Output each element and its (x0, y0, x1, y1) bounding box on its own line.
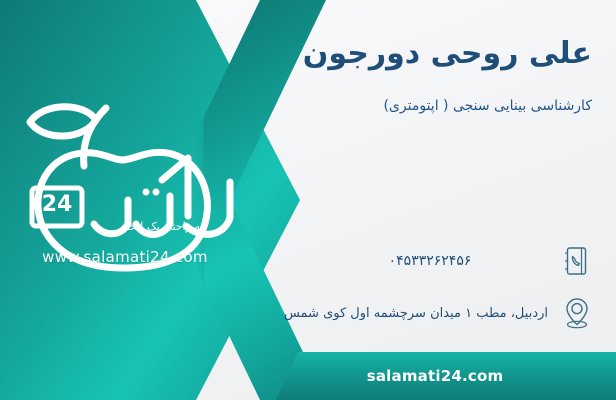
brand-logo: 24 به راحتی یک لبخند www.salamati24.com (10, 96, 260, 276)
contact-row-phone[interactable]: ۰۴۵۳۳۲۶۲۴۵۶ (294, 242, 594, 280)
business-card: 24 به راحتی یک لبخند www.salamati24.com … (0, 0, 616, 400)
address-text: اردبیل، مطب ۱ میدان سرچشمه اول کوی شمس (284, 306, 548, 321)
footer-bar[interactable]: salamati24.com (276, 352, 616, 400)
phone-number: ۰۴۵۳۳۲۶۲۴۵۶ (294, 253, 548, 269)
map-pin-icon (560, 294, 594, 332)
person-profession: کارشناسی بینایی سنجی ( اپتومتری) (383, 98, 592, 114)
logo-website-url: www.salamati24.com (10, 248, 240, 266)
logo-tagline: به راحتی یک لبخند (96, 220, 228, 233)
phone-book-icon (560, 242, 594, 280)
contact-row-address[interactable]: اردبیل، مطب ۱ میدان سرچشمه اول کوی شمس (294, 294, 594, 332)
footer-website: salamati24.com (367, 367, 526, 385)
person-name: علی روحی دورجون (303, 36, 592, 71)
contact-block: ۰۴۵۳۳۲۶۲۴۵۶ اردبیل، مطب ۱ میدان سرچشمه ا… (294, 242, 594, 346)
badge-24-label: 24 (32, 192, 82, 217)
